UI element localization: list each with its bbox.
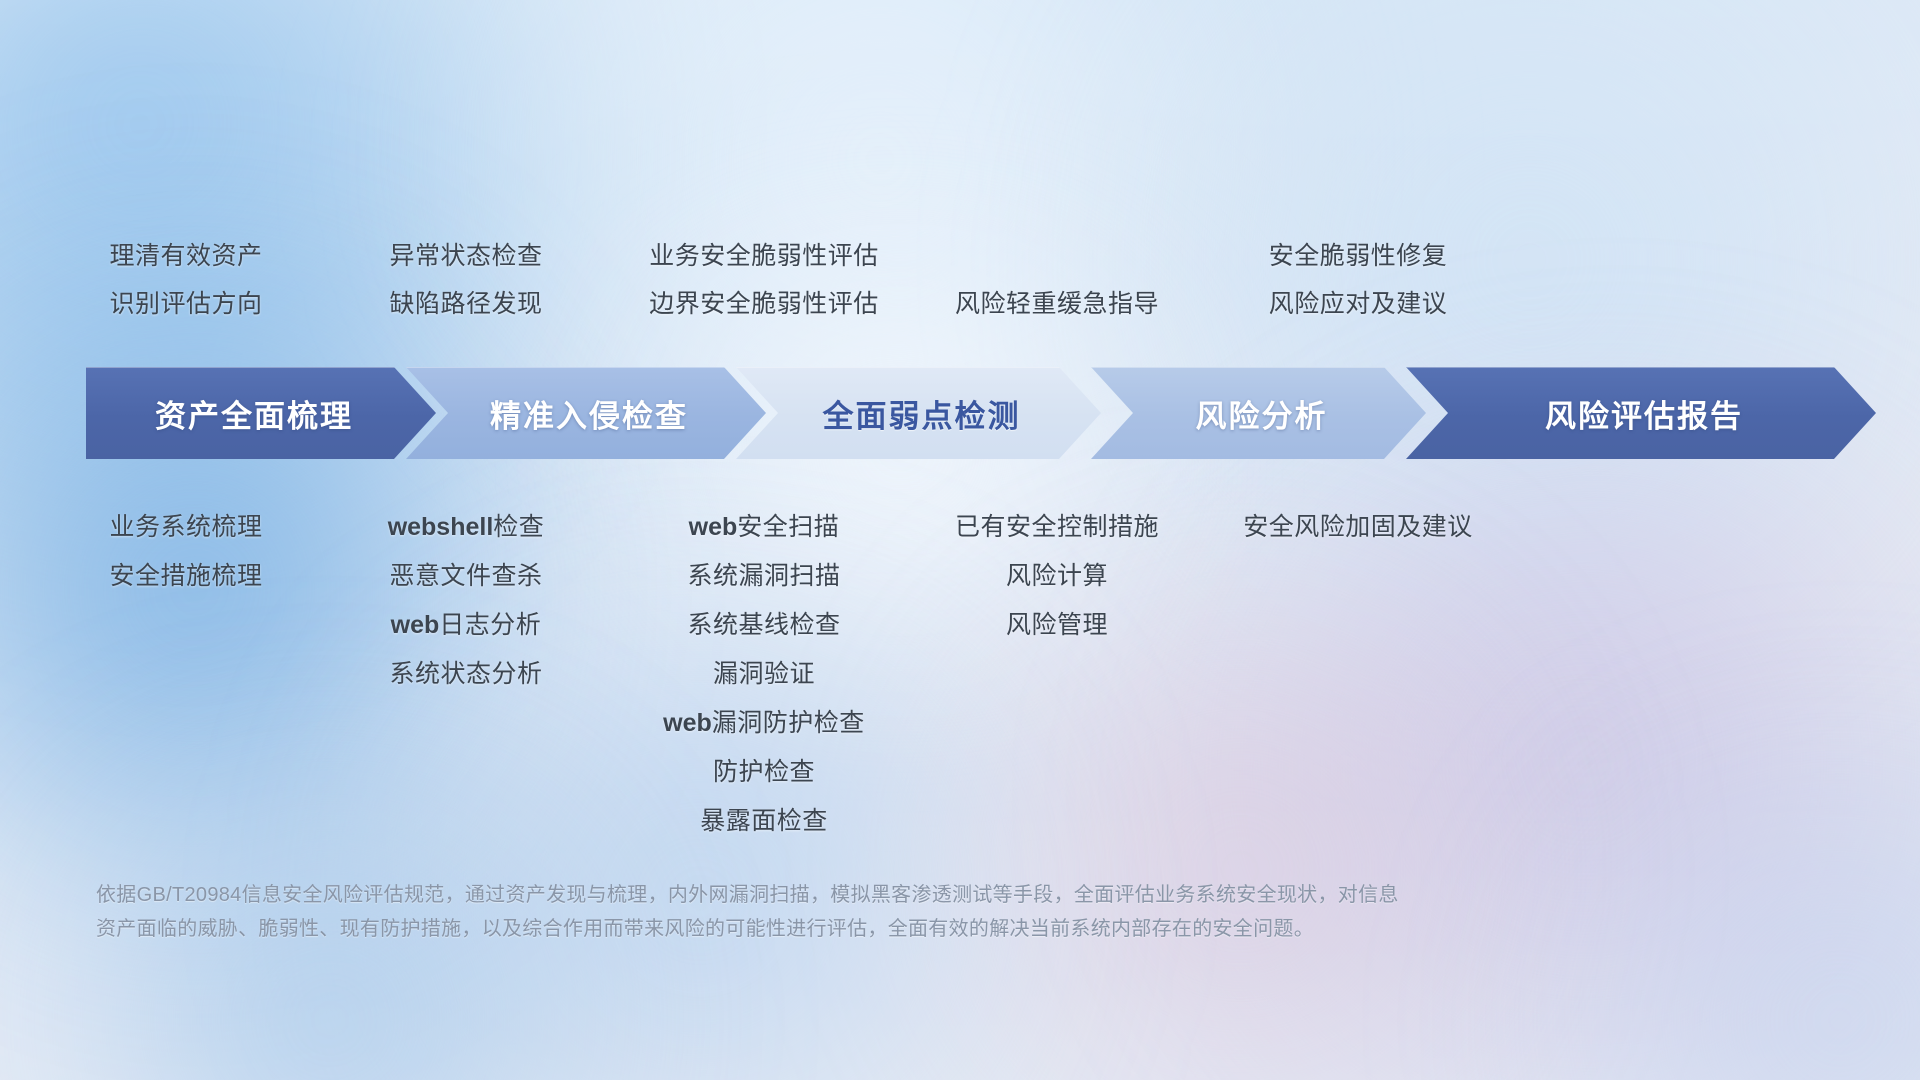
list-item: 风险应对及建议 — [1158, 280, 1558, 328]
list-item: 业务安全脆弱性评估 — [564, 232, 964, 280]
footnote-paragraph: 依据GB/T20984信息安全风险评估规范，通过资产发现与梳理，内外网漏洞扫描，… — [96, 878, 1616, 946]
process-stage-weakness-detection[interactable]: 全面弱点检测 — [736, 367, 1101, 459]
stage-title: 风险分析 — [1196, 391, 1328, 436]
stage-title: 资产全面梳理 — [155, 391, 353, 436]
list-item: 安全脆弱性修复 — [1158, 232, 1558, 280]
list-item: 安全风险加固及建议 — [1158, 503, 1558, 552]
stage-title: 精准入侵检查 — [490, 391, 688, 436]
stage-inputs-risk-report: 安全脆弱性修复风险应对及建议 — [1158, 232, 1558, 328]
list-item: 风险管理 — [887, 601, 1227, 650]
process-stage-asset-inventory[interactable]: 资产全面梳理 — [86, 367, 436, 459]
list-item: 漏洞验证 — [564, 650, 964, 699]
stage-outputs-risk-report: 安全风险加固及建议 — [1158, 503, 1558, 552]
process-stage-risk-report[interactable]: 风险评估报告 — [1406, 367, 1876, 459]
footnote-line-1: 依据GB/T20984信息安全风险评估规范，通过资产发现与梳理，内外网漏洞扫描，… — [96, 878, 1616, 912]
footnote-line-2: 资产面临的威胁、脆弱性、现有防护措施，以及综合作用而带来风险的可能性进行评估，全… — [96, 912, 1616, 946]
process-stage-risk-analysis[interactable]: 风险分析 — [1091, 367, 1426, 459]
list-item: 风险计算 — [887, 552, 1227, 601]
stage-title: 风险评估报告 — [1545, 391, 1743, 436]
list-item: 暴露面检查 — [564, 797, 964, 846]
stage-title: 全面弱点检测 — [823, 391, 1021, 436]
process-stage-intrusion-check[interactable]: 精准入侵检查 — [406, 367, 766, 459]
stage-inputs-row: 理清有效资产识别评估方向异常状态检查缺陷路径发现业务安全脆弱性评估边界安全脆弱性… — [0, 232, 1920, 328]
list-item: 防护检查 — [564, 748, 964, 797]
list-item: web漏洞防护检查 — [564, 699, 964, 748]
process-arrow-band: 资产全面梳理精准入侵检查全面弱点检测风险分析风险评估报告 — [86, 367, 1876, 459]
